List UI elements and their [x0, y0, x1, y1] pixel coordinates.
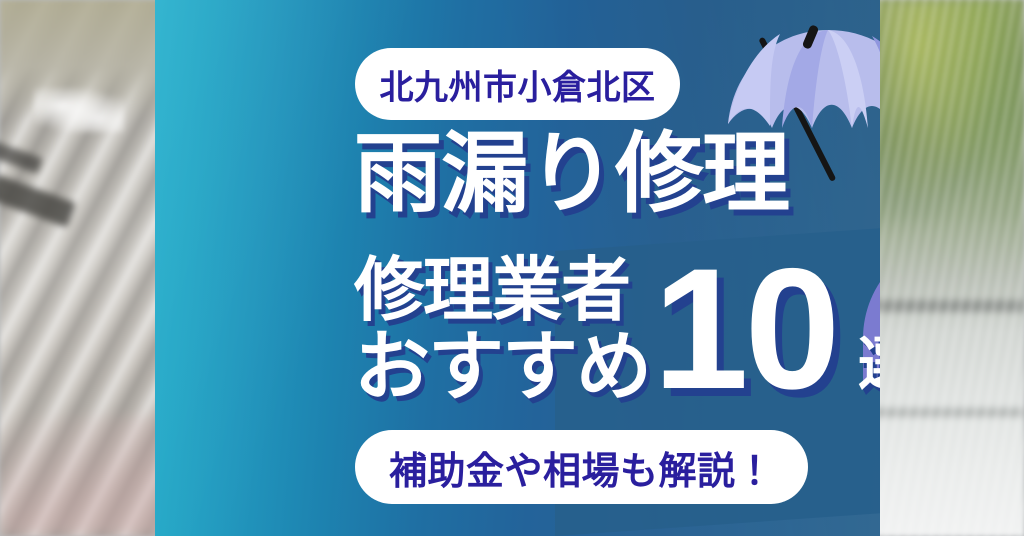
- roof-leak-repair-banner: 北九州市小倉北区 雨漏り修理 修理業者 おすすめ 10 選 補助金や相場も解説！: [0, 0, 1024, 536]
- banner-text-stack: 北九州市小倉北区 雨漏り修理 修理業者 おすすめ 10 選 補助金や相場も解説！: [350, 0, 880, 536]
- subtitle-line-2: おすすめ: [354, 330, 650, 406]
- page-title: 雨漏り修理: [354, 130, 789, 218]
- subtitle-line-1: 修理業者: [354, 255, 630, 325]
- blurred-rainy-window-photo: [874, 0, 1024, 536]
- region-badge: 北九州市小倉北区: [355, 48, 680, 120]
- rain-streaks-overlay: [864, 0, 1024, 536]
- roof-photo-dark-detail: [0, 174, 76, 227]
- count-number: 10: [653, 243, 836, 415]
- count-unit: 選: [858, 336, 880, 394]
- roof-photo-warm-tint: [0, 416, 175, 536]
- roof-photo-highlight: [34, 88, 124, 132]
- roof-photo-dark-detail-upper: [0, 138, 43, 174]
- blurred-roof-tiles-photo: [0, 0, 175, 536]
- blue-gradient-panel: 北九州市小倉北区 雨漏り修理 修理業者 おすすめ 10 選 補助金や相場も解説！: [155, 0, 880, 536]
- footer-badge: 補助金や相場も解説！: [355, 430, 808, 504]
